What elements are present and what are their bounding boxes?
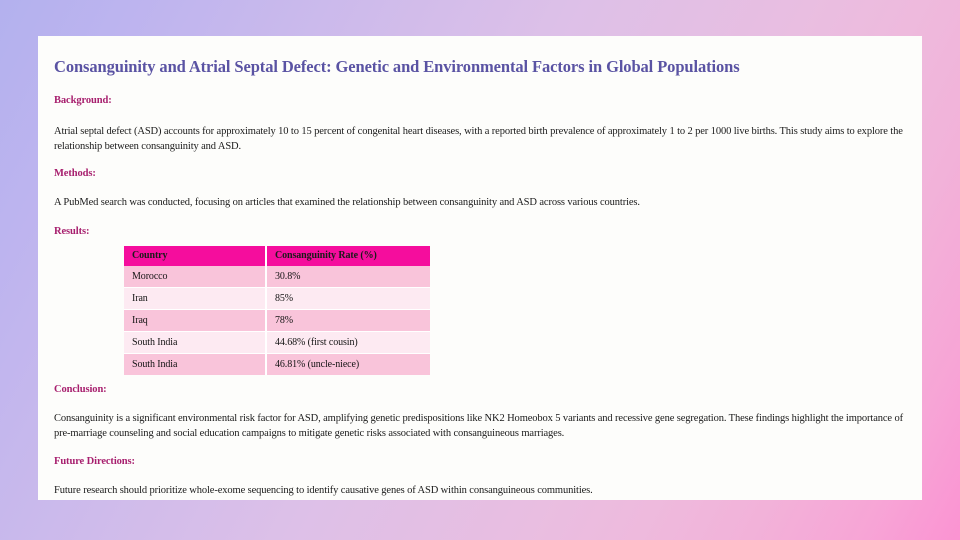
results-table-body: Morocco 30.8% Iran 85% Iraq 78% South In… [124,266,430,375]
cell-country: South India [124,332,266,354]
table-row: Morocco 30.8% [124,266,430,288]
cell-rate: 30.8% [266,266,430,288]
table-row: South India 44.68% (first cousin) [124,332,430,354]
table-row: South India 46.81% (uncle-niece) [124,354,430,376]
page-title: Consanguinity and Atrial Septal Defect: … [54,58,910,76]
column-header-country: Country [124,246,266,266]
section-heading-methods: Methods: [54,168,96,179]
cell-country: Iraq [124,310,266,332]
table-row: Iran 85% [124,288,430,310]
section-heading-conclusion: Conclusion: [54,384,107,395]
cell-rate: 85% [266,288,430,310]
cell-country: Morocco [124,266,266,288]
section-body-conclusion: Consanguinity is a significant environme… [54,412,916,442]
slide-background: Consanguinity and Atrial Septal Defect: … [0,0,960,540]
content-panel-inner: Consanguinity and Atrial Septal Defect: … [46,48,914,500]
cell-rate: 78% [266,310,430,332]
cell-rate: 46.81% (uncle-niece) [266,354,430,376]
section-body-future-directions: Future research should prioritize whole-… [54,484,916,499]
cell-country: South India [124,354,266,376]
table-row: Iraq 78% [124,310,430,332]
cell-rate: 44.68% (first cousin) [266,332,430,354]
section-body-methods: A PubMed search was conducted, focusing … [54,196,914,211]
section-body-background: Atrial septal defect (ASD) accounts for … [54,125,914,155]
content-panel: Consanguinity and Atrial Septal Defect: … [38,36,922,500]
section-heading-background: Background: [54,95,112,106]
section-heading-results: Results: [54,226,89,237]
results-table-header: Country Consanguinity Rate (%) [124,246,430,266]
results-table: Country Consanguinity Rate (%) Morocco 3… [124,246,430,375]
section-heading-future-directions: Future Directions: [54,456,135,467]
column-header-consanguinity-rate: Consanguinity Rate (%) [266,246,430,266]
cell-country: Iran [124,288,266,310]
table-header-row: Country Consanguinity Rate (%) [124,246,430,266]
